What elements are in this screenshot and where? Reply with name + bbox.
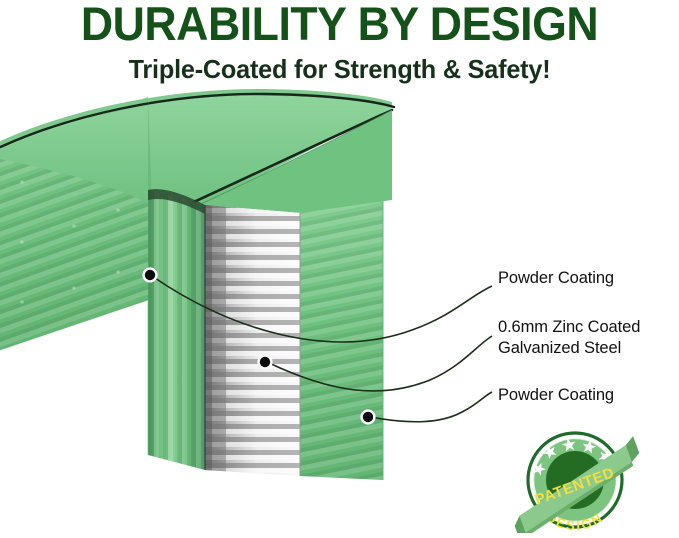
callout-dot-3[interactable] xyxy=(360,409,375,424)
callout-dot-2[interactable] xyxy=(257,354,272,369)
galvanized-steel-core xyxy=(200,200,308,484)
callout-dot-1[interactable] xyxy=(142,267,157,282)
callout-label-powder-coating-outer: Powder Coating xyxy=(498,268,614,289)
callout-label-powder-coating-inner: Powder Coating xyxy=(498,385,614,406)
patented-design-badge: DESIGN PATENTED xyxy=(505,425,650,533)
callout-label-line-2: Galvanized Steel xyxy=(498,338,640,359)
patented-design-seal-svg: DESIGN PATENTED xyxy=(505,425,650,533)
callout-label-line-1: 0.6mm Zinc Coated xyxy=(498,317,640,338)
callout-label-zinc-coated-steel: 0.6mm Zinc Coated Galvanized Steel xyxy=(498,317,640,359)
leader-line-3 xyxy=(370,392,492,422)
